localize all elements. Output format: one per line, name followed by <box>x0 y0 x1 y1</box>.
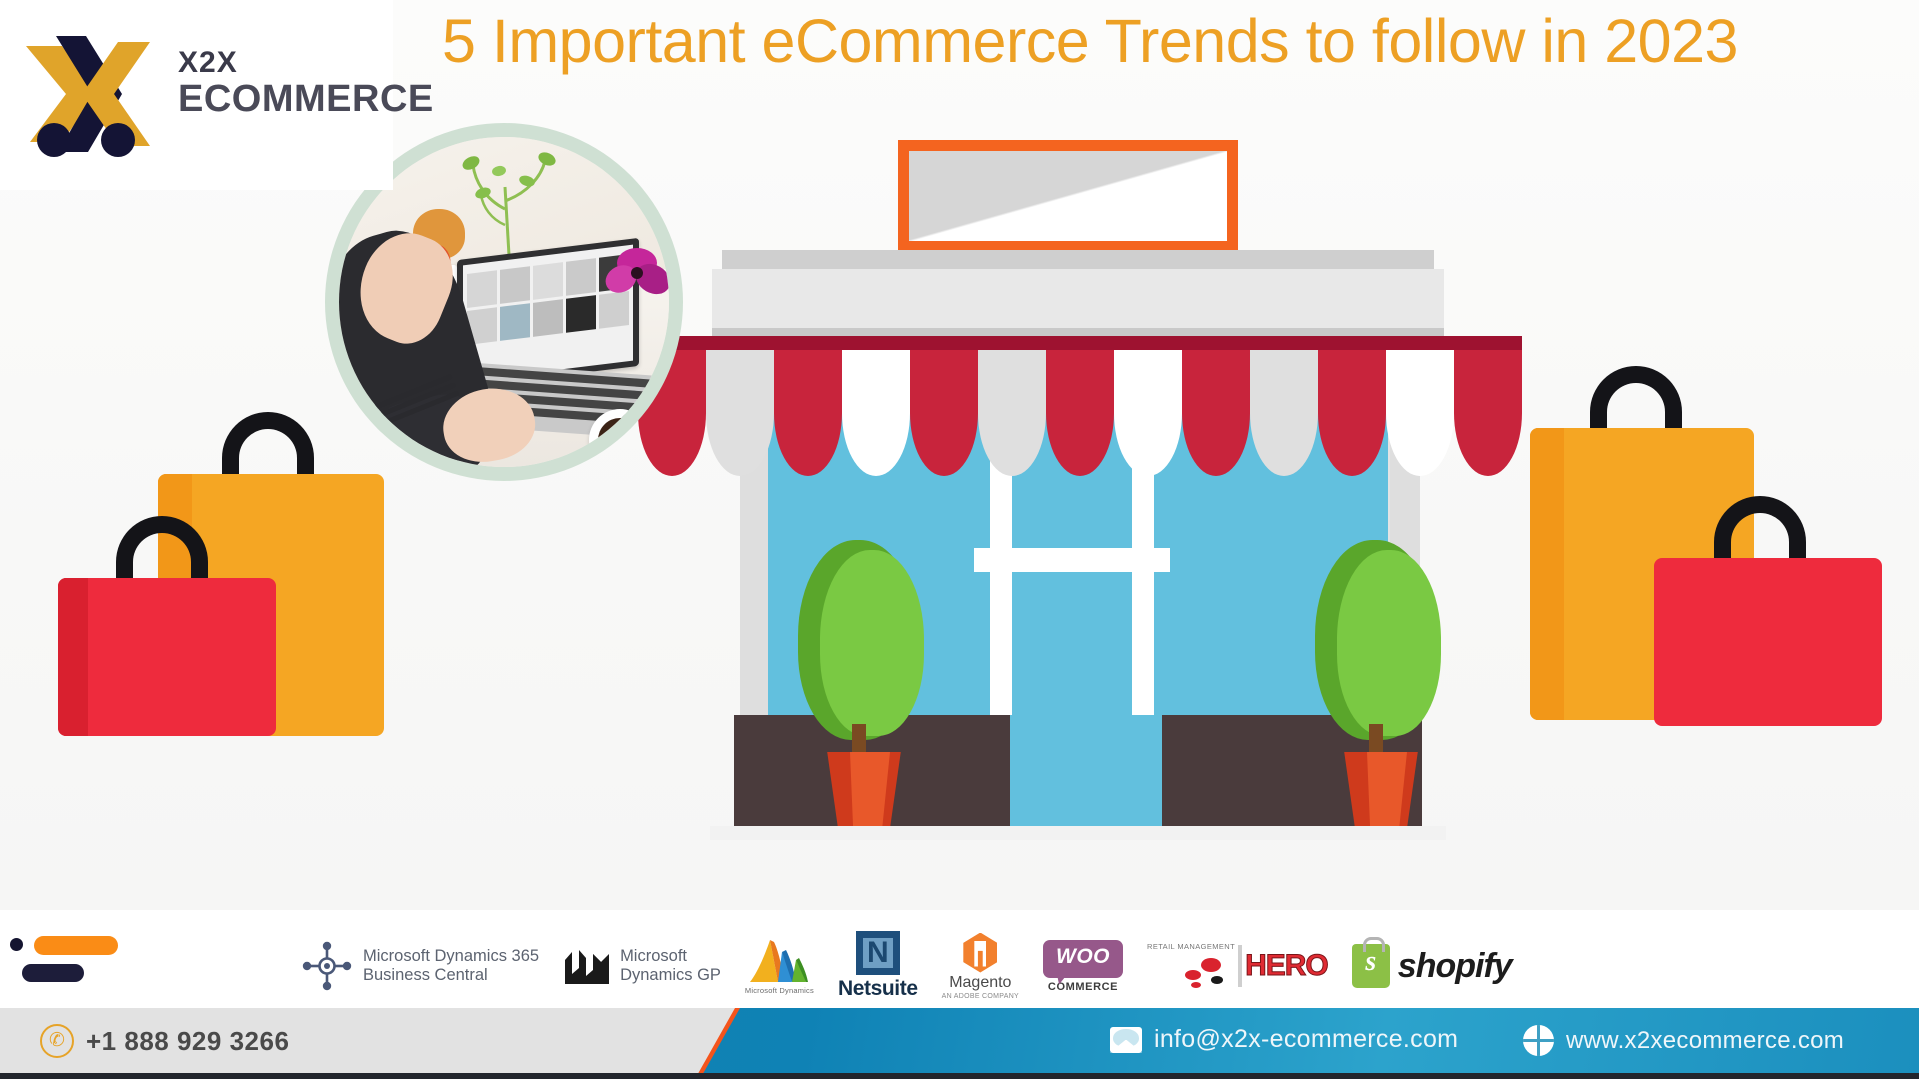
brand-logo-card[interactable]: X2X ECOMMERCE <box>0 0 393 190</box>
partner-label-line2: AN ADOBE COMPANY <box>942 993 1019 1000</box>
woocommerce-icon: WOO <box>1043 940 1123 978</box>
partner-label-line1: Microsoft Dynamics 365 <box>363 947 539 966</box>
partner-label: Microsoft Dynamics GP <box>620 947 721 985</box>
brand-logo-ecommerce: ECOMMERCE <box>178 80 378 118</box>
partner-label-line1: Microsoft Dynamics <box>745 986 814 995</box>
storefront-illustration <box>690 140 1470 880</box>
door-transom-bar <box>974 548 1170 572</box>
partner-label-line2: COMMERCE <box>1048 981 1118 993</box>
hero-splatter-icon <box>1183 952 1235 990</box>
accent-bar-navy <box>22 964 84 982</box>
partner-label-line2: Business Central <box>363 966 539 985</box>
poster-canvas: 5 Important eCommerce Trends to follow i… <box>0 0 1919 1079</box>
partner-label-line2: Dynamics GP <box>620 966 721 985</box>
facade-top-trim <box>722 250 1434 270</box>
store-sign-panel <box>909 151 1227 241</box>
footer-bottom-edge <box>0 1073 1919 1079</box>
partner-hero[interactable]: RETAIL MANAGEMENT HERO <box>1147 942 1328 990</box>
facade-band <box>712 269 1444 329</box>
partner-microsoft-dynamics-gp[interactable]: Microsoft Dynamics GP <box>563 946 721 986</box>
phone-icon <box>40 1024 74 1058</box>
door-opening <box>1010 715 1162 827</box>
partner-logos: Microsoft Dynamics 365 Business Central … <box>300 910 1860 1022</box>
shopping-bags-right <box>1530 428 1900 738</box>
partner-woocommerce[interactable]: WOO COMMERCE <box>1043 940 1123 993</box>
partner-label-line1: shopify <box>1398 947 1512 986</box>
topiary-tree-left <box>798 540 948 830</box>
partner-shopify[interactable]: shopify <box>1352 944 1512 988</box>
dynamics-365-business-central-icon <box>300 939 354 993</box>
tree-foliage-front <box>1337 550 1441 736</box>
brand-logo-text: X2X ECOMMERCE <box>178 48 378 118</box>
page-title: 5 Important eCommerce Trends to follow i… <box>380 6 1800 78</box>
shopping-bag-red <box>58 578 276 736</box>
partner-magento[interactable]: Magento AN ADOBE COMPANY <box>942 933 1019 1000</box>
sidewalk <box>710 826 1446 840</box>
partner-microsoft-dynamics[interactable]: Microsoft Dynamics <box>745 938 814 995</box>
striped-awning <box>638 336 1522 476</box>
contact-footer: +1 888 929 3266 info@x2x-ecommerce.com w… <box>0 1008 1919 1079</box>
bag-body <box>1654 558 1882 726</box>
partner-label-line2: RETAIL MANAGEMENT <box>1147 942 1235 951</box>
bag-body <box>58 578 276 736</box>
partner-label-line1: Magento <box>949 974 1011 992</box>
store-sign-frame <box>898 140 1238 252</box>
shopify-icon <box>1352 944 1390 988</box>
hero-divider <box>1238 945 1242 987</box>
footer-phone[interactable]: +1 888 929 3266 <box>40 1024 289 1058</box>
footer-email[interactable]: info@x2x-ecommerce.com <box>1110 1025 1458 1054</box>
partner-label: Microsoft Dynamics 365 Business Central <box>363 947 539 985</box>
flower-icon <box>597 241 669 315</box>
footer-website[interactable]: www.x2xecommerce.com <box>1523 1025 1844 1056</box>
brand-logo-x2x: X2X <box>178 48 378 78</box>
shopping-bag-red <box>1654 558 1882 726</box>
envelope-icon <box>1110 1027 1142 1053</box>
coffee-cup <box>589 409 651 467</box>
accent-bar-orange <box>34 936 118 955</box>
awning-stripes <box>638 350 1522 476</box>
netsuite-icon <box>856 931 900 975</box>
topiary-tree-right <box>1315 540 1465 830</box>
microsoft-dynamics-icon <box>748 938 810 984</box>
globe-icon <box>1523 1025 1554 1056</box>
strip-accent-graphic <box>8 916 138 986</box>
partner-label-line1: Microsoft <box>620 947 721 966</box>
footer-website-text: www.x2xecommerce.com <box>1566 1027 1844 1055</box>
partner-label-line1: Netsuite <box>838 977 918 1001</box>
footer-phone-text: +1 888 929 3266 <box>86 1026 289 1057</box>
magento-icon <box>963 933 997 973</box>
partner-label-line1: HERO <box>1245 949 1328 983</box>
hero-left-group: RETAIL MANAGEMENT <box>1147 942 1235 990</box>
microsoft-dynamics-gp-icon <box>563 946 611 986</box>
accent-dot <box>10 938 23 951</box>
tree-foliage-front <box>820 550 924 736</box>
partner-netsuite[interactable]: Netsuite <box>838 931 918 1001</box>
footer-email-text: info@x2x-ecommerce.com <box>1154 1025 1458 1054</box>
partner-dynamics-365-business-central[interactable]: Microsoft Dynamics 365 Business Central <box>300 939 539 993</box>
